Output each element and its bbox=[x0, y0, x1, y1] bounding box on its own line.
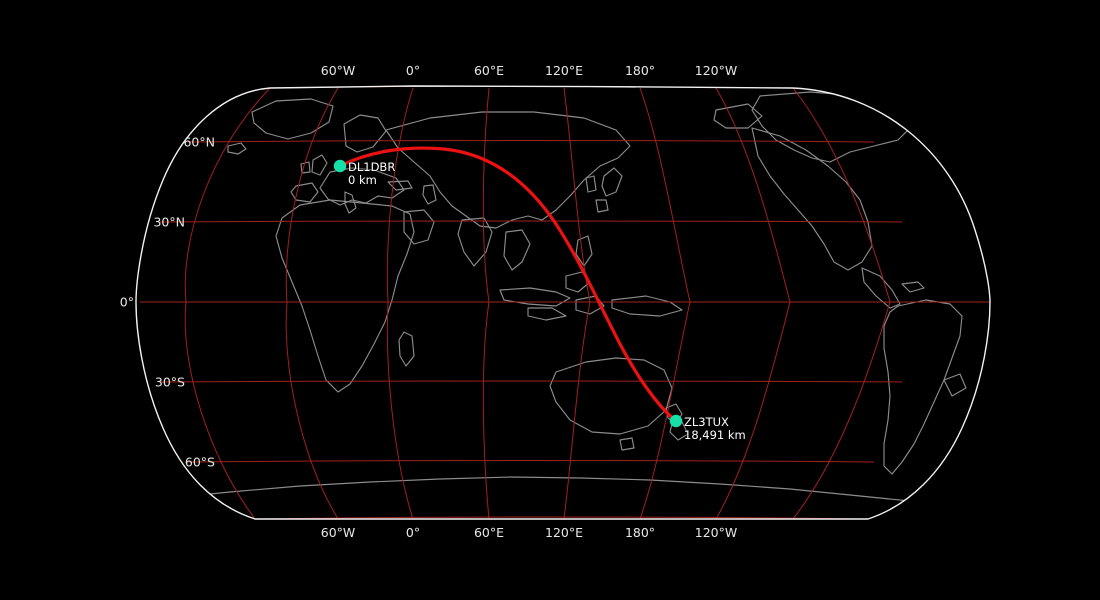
station-distance-destination: 18,491 km bbox=[684, 429, 746, 442]
lon-tick-bottom-0: 60°W bbox=[321, 525, 356, 540]
lon-tick-top-4: 180° bbox=[625, 63, 655, 78]
lat-tick-4: 60°S bbox=[185, 455, 215, 470]
station-distance-origin: 0 km bbox=[348, 174, 395, 187]
station-label-destination: ZL3TUX 18,491 km bbox=[684, 416, 746, 441]
lon-tick-bottom-5: 120°W bbox=[695, 525, 737, 540]
marker-dot-destination[interactable] bbox=[670, 415, 682, 427]
map-background bbox=[0, 0, 1100, 600]
lon-tick-bottom-4: 180° bbox=[625, 525, 655, 540]
lat-tick-3: 30°S bbox=[155, 375, 185, 390]
map-canvas: Robinson Projection JO41 to RE66HO (59°T… bbox=[0, 0, 1100, 600]
lat-tick-2: 0° bbox=[120, 295, 134, 310]
lon-tick-top-5: 120°W bbox=[695, 63, 737, 78]
station-label-origin: DL1DBR 0 km bbox=[348, 161, 395, 186]
lon-tick-top-2: 60°E bbox=[474, 63, 504, 78]
marker-dot-origin[interactable] bbox=[334, 160, 346, 172]
lon-tick-bottom-1: 0° bbox=[406, 525, 420, 540]
station-callsign-origin: DL1DBR bbox=[348, 161, 395, 174]
station-callsign-destination: ZL3TUX bbox=[684, 416, 746, 429]
lat-tick-0: 60°N bbox=[183, 135, 215, 150]
lon-tick-bottom-2: 60°E bbox=[474, 525, 504, 540]
lon-tick-top-0: 60°W bbox=[321, 63, 356, 78]
lat-tick-1: 30°N bbox=[153, 215, 185, 230]
lon-tick-top-3: 120°E bbox=[545, 63, 583, 78]
lon-tick-top-1: 0° bbox=[406, 63, 420, 78]
robinson-map bbox=[0, 0, 1100, 600]
lon-tick-bottom-3: 120°E bbox=[545, 525, 583, 540]
